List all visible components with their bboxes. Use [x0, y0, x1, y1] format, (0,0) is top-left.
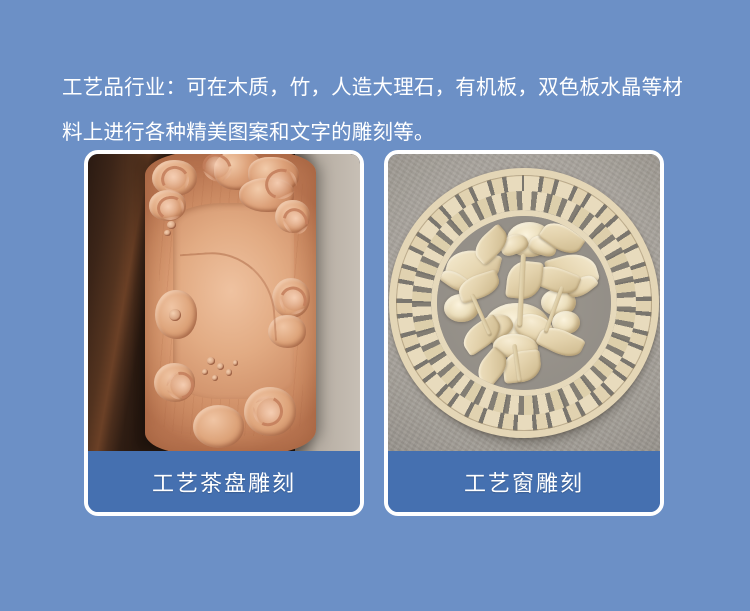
card-caption-window-carving: 工艺窗雕刻 — [388, 451, 660, 512]
page-root: 工艺品行业：可在木质，竹，人造大理石，有机板，双色板水晶等材料上进行各种精美图案… — [0, 0, 750, 611]
relief-speck-left-a — [167, 221, 176, 229]
carving-medallion — [437, 216, 611, 390]
card-tea-tray[interactable]: 工艺茶盘雕刻 — [84, 150, 364, 516]
relief-speck-field-e — [233, 360, 239, 366]
card-window-carving[interactable]: 工艺窗雕刻 — [384, 150, 664, 516]
relief-handle-knob — [169, 309, 181, 321]
relief-speck-field-b — [217, 363, 224, 370]
relief-speck-field-d — [212, 375, 218, 381]
tea-tray-body — [145, 154, 316, 451]
carving-card-row: 工艺茶盘雕刻 — [84, 150, 664, 516]
window-carving-photo — [388, 154, 660, 451]
relief-lobe-bottom-mid — [193, 405, 244, 447]
circular-carving — [389, 168, 659, 438]
intro-paragraph: 工艺品行业：可在木质，竹，人造大理石，有机板，双色板水晶等材料上进行各种精美图案… — [62, 65, 702, 155]
card-caption-tea-tray: 工艺茶盘雕刻 — [88, 451, 360, 512]
tea-tray-photo — [88, 154, 360, 451]
